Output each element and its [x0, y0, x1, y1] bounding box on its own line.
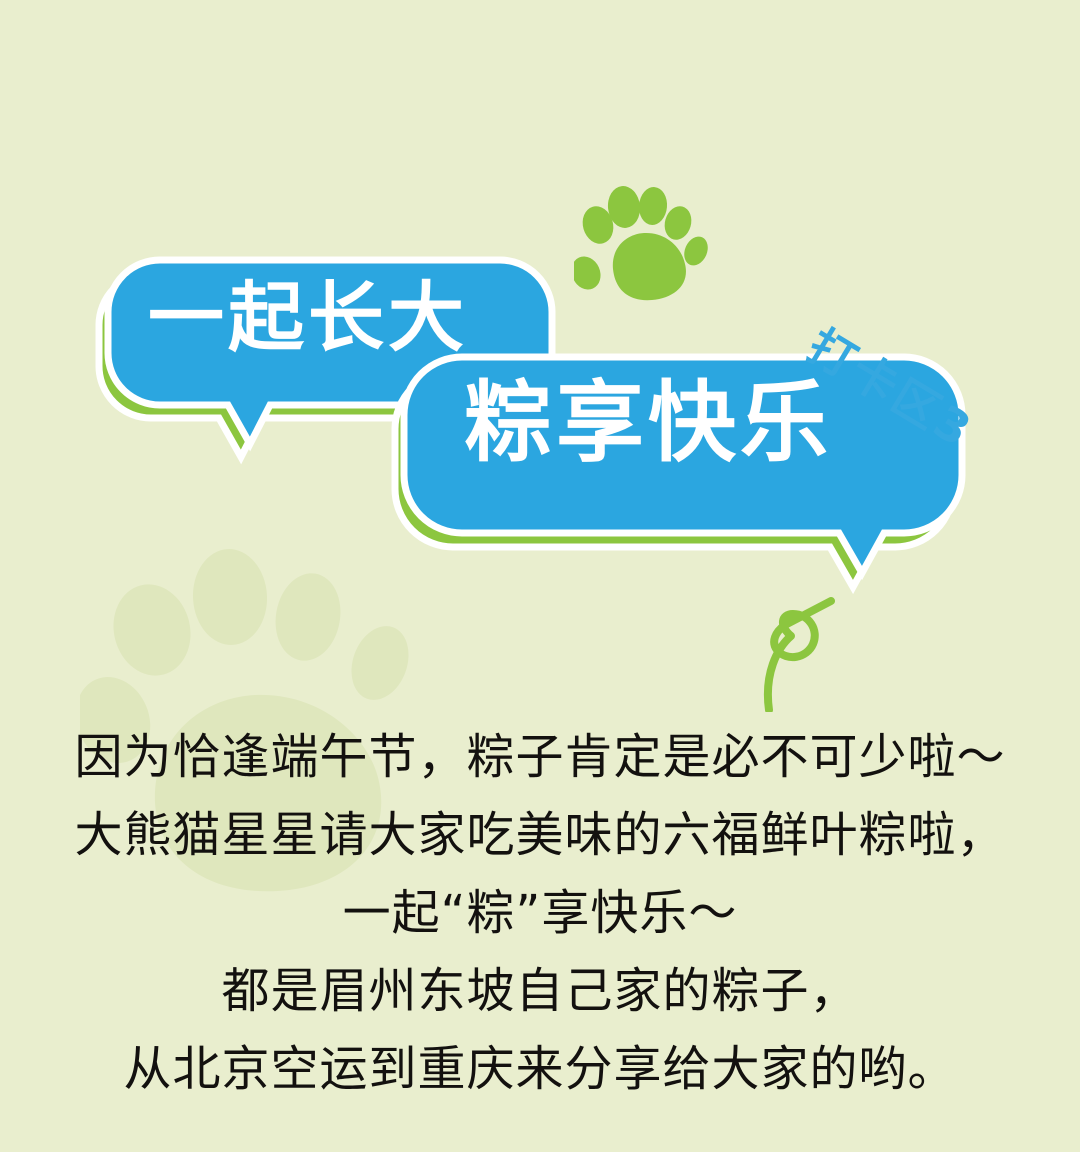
speech-bubble-two-label: 粽享快乐	[464, 379, 832, 467]
poster-canvas: 一起长大 粽享快乐 打卡区3 因为恰逢端午节，粽子肯定是必不可少啦～ 大熊猫星星…	[0, 0, 1080, 1152]
copy-line: 因为恰逢端午节，粽子肯定是必不可少啦～	[0, 718, 1080, 796]
body-copy: 因为恰逢端午节，粽子肯定是必不可少啦～ 大熊猫星星请大家吃美味的六福鲜叶粽啦， …	[0, 718, 1080, 1108]
vine-curl-icon	[733, 592, 853, 712]
copy-line: 一起“粽”享快乐～	[0, 874, 1080, 952]
copy-line: 从北京空运到重庆来分享给大家的哟。	[0, 1030, 1080, 1108]
check-in-stamp: 打卡区3	[806, 272, 1036, 412]
copy-line: 都是眉州东坡自己家的粽子，	[0, 952, 1080, 1030]
paw-print-icon	[574, 183, 708, 303]
copy-line: 大熊猫星星请大家吃美味的六福鲜叶粽啦，	[0, 796, 1080, 874]
